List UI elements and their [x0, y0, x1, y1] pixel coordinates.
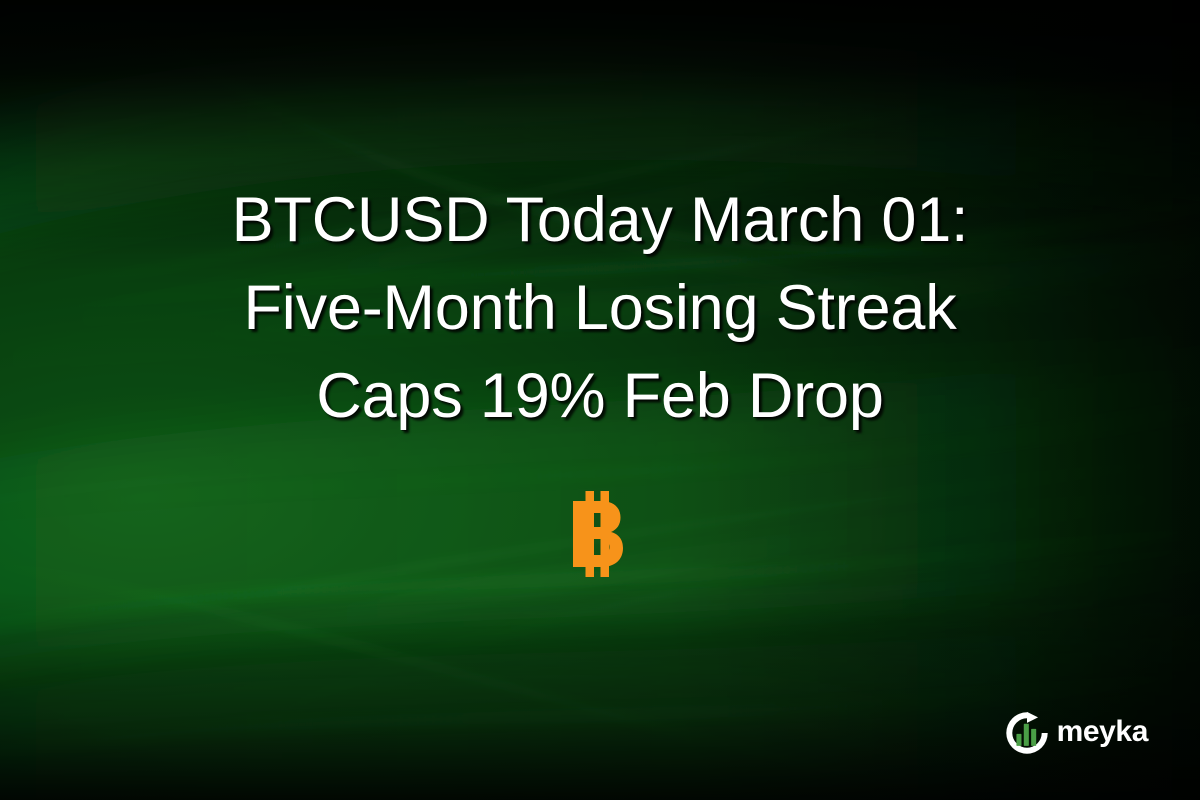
headline-line-2: Five-Month Losing Streak [90, 264, 1110, 352]
headline-line-1: BTCUSD Today March 01: [90, 176, 1110, 264]
brand-name-label: meyka [1057, 717, 1148, 749]
banner-content: BTCUSD Today March 01: Five-Month Losing… [0, 0, 1200, 800]
brand-logo[interactable]: meyka [1004, 710, 1148, 756]
article-banner: BTCUSD Today March 01: Five-Month Losing… [0, 0, 1200, 800]
meyka-logo-icon [1004, 710, 1050, 756]
bitcoin-symbol-icon [564, 488, 636, 580]
article-headline: BTCUSD Today March 01: Five-Month Losing… [90, 176, 1110, 440]
headline-line-3: Caps 19% Feb Drop [90, 352, 1110, 440]
